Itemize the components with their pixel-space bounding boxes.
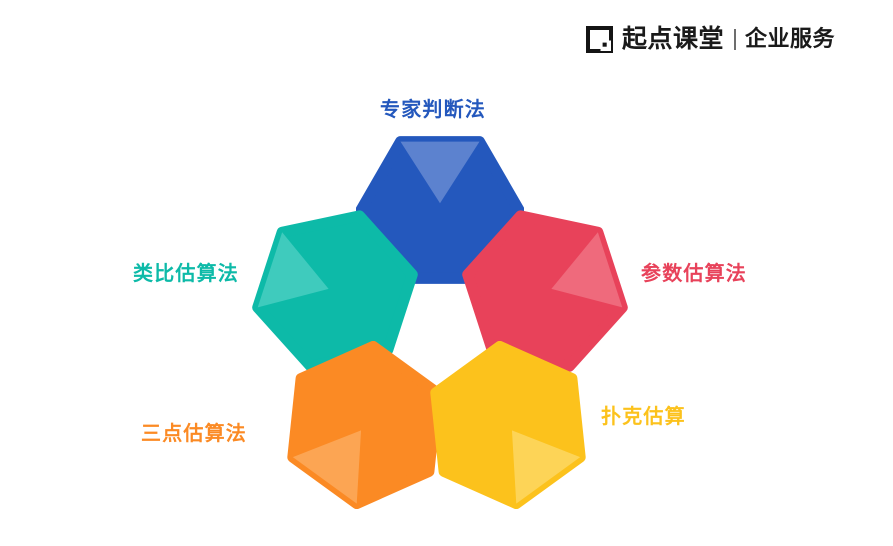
hex-label-parametric-estimating: 参数估算法 <box>641 264 747 284</box>
hexagon-flower-diagram: 专家判断法类比估算法参数估算法三点估算法扑克估算 <box>0 0 893 546</box>
hex-node-poker-estimating[interactable] <box>424 341 592 509</box>
hex-label-poker-estimating: 扑克估算 <box>601 407 686 427</box>
hex-body <box>424 341 592 509</box>
hex-label-analogous-estimating: 类比估算法 <box>133 264 239 284</box>
hex-label-expert-judgment: 专家判断法 <box>380 100 486 120</box>
hex-label-three-point-estimating: 三点估算法 <box>141 424 247 444</box>
